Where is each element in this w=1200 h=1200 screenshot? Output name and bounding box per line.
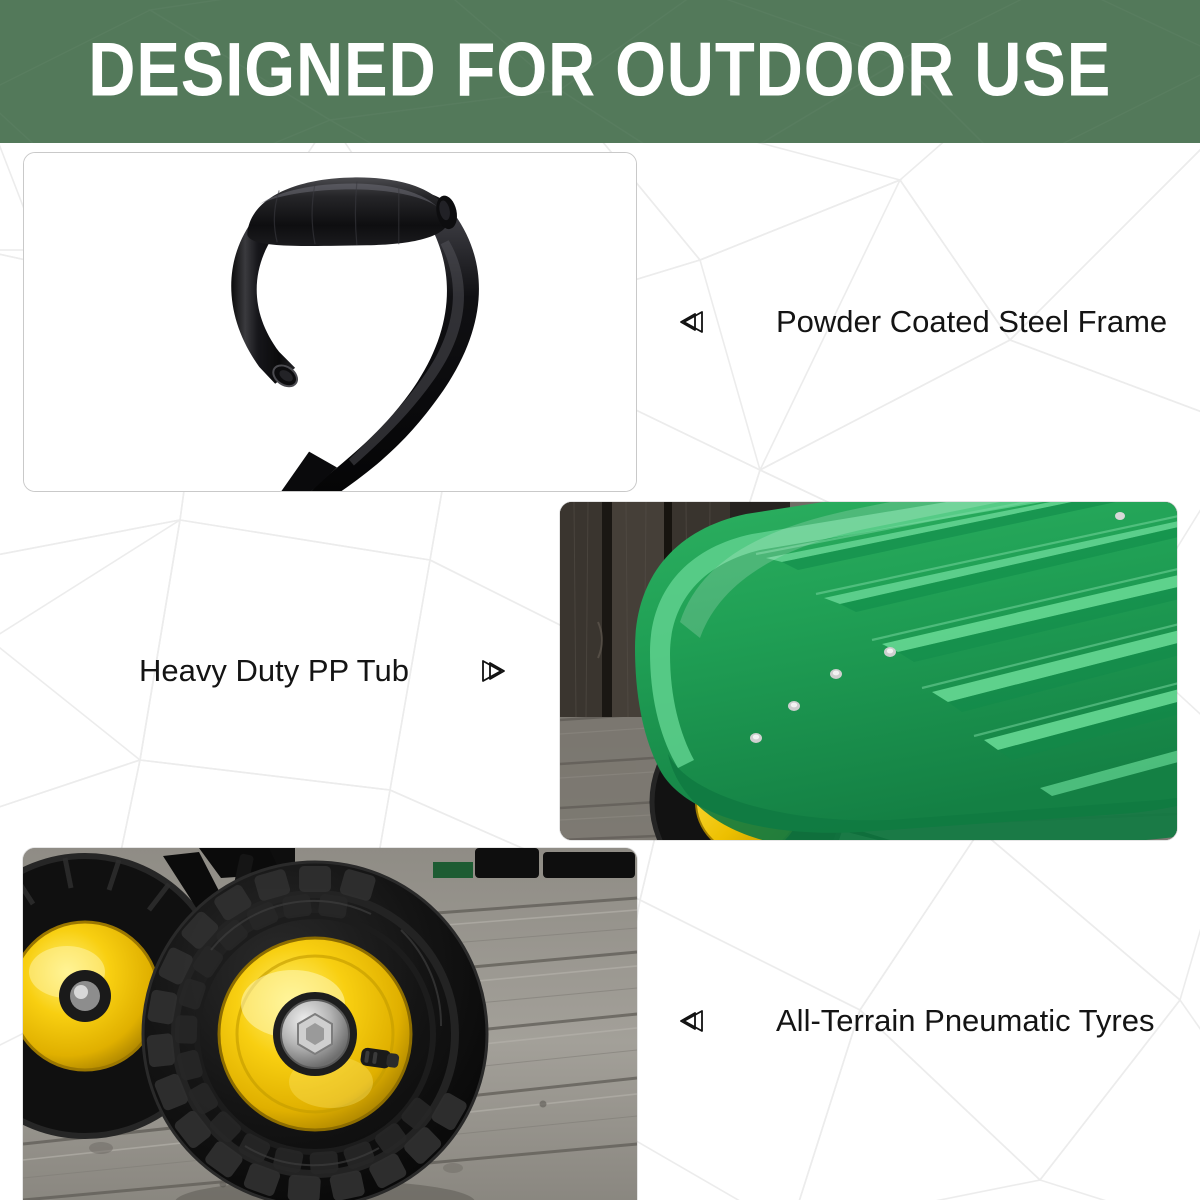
feature-label-text: All-Terrain Pneumatic Tyres xyxy=(776,1005,1154,1036)
feature-label-all-terrain-pneumatic-tyres: All-Terrain Pneumatic Tyres xyxy=(678,1005,1154,1036)
page-title: DESIGNED FOR OUTDOOR USE xyxy=(0,32,1200,108)
triangle-left-icon xyxy=(678,1008,708,1034)
tyre-photo xyxy=(23,848,637,1200)
feature-label-heavy-duty-pp-tub: Heavy Duty PP Tub xyxy=(139,655,507,686)
infographic-page: DESIGNED FOR OUTDOOR USE xyxy=(0,0,1200,1200)
tub-photo xyxy=(560,502,1177,840)
feature-label-powder-coated-steel-frame: Powder Coated Steel Frame xyxy=(678,306,1167,337)
page-title-text: DESIGNED FOR OUTDOOR USE xyxy=(89,32,1112,108)
feature-label-text: Heavy Duty PP Tub xyxy=(139,655,409,686)
triangle-right-icon xyxy=(477,658,507,684)
triangle-left-icon xyxy=(678,309,708,335)
handle-photo xyxy=(23,152,637,492)
feature-label-text: Powder Coated Steel Frame xyxy=(776,306,1167,337)
header-banner: DESIGNED FOR OUTDOOR USE xyxy=(0,0,1200,143)
